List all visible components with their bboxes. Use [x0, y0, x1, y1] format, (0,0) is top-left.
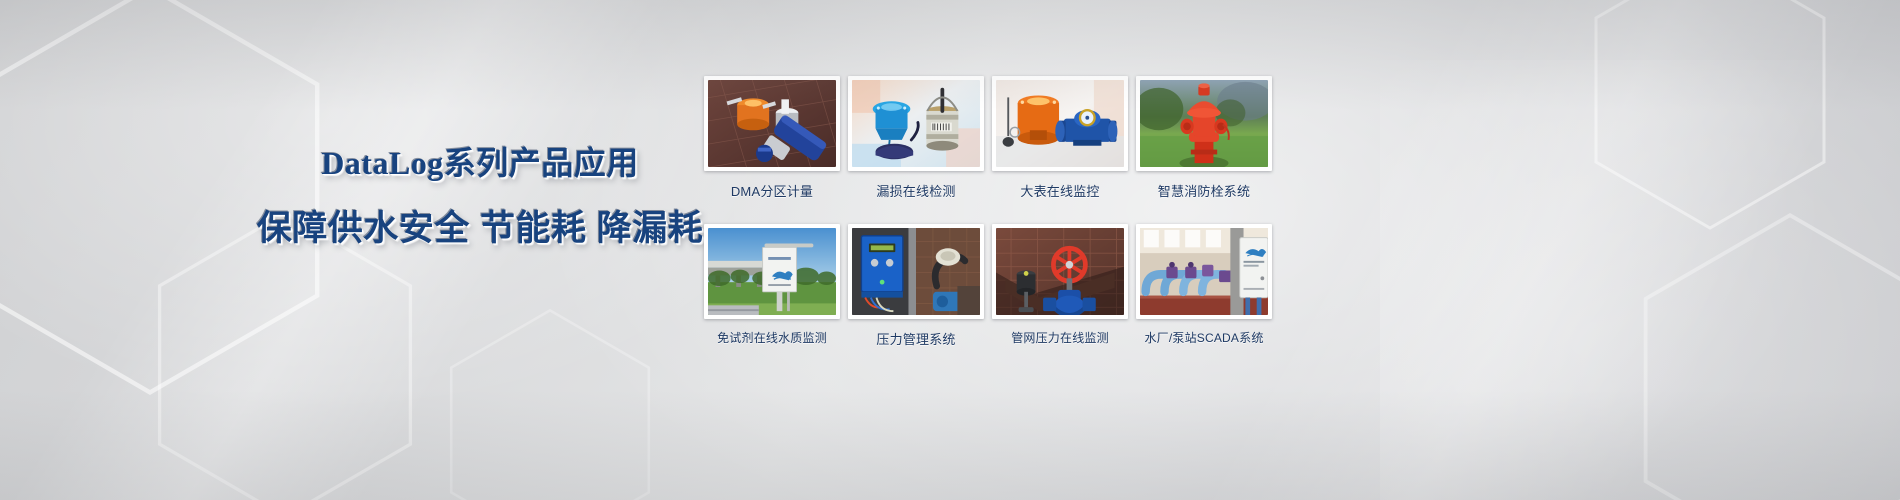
- fire-hydrant-icon: [1140, 80, 1268, 167]
- gallery-item-large-meter-monitoring[interactable]: 大表在线监控: [988, 76, 1132, 212]
- headline-line-2: 保障供水安全 节能耗 降漏耗: [250, 206, 710, 252]
- product-caption: 智慧消防栓系统: [1158, 181, 1250, 200]
- gallery-item-waterworks-scada[interactable]: 水厂/泵站SCADA系统: [1132, 224, 1276, 360]
- headline-line-1: DataLog系列产品应用: [250, 142, 710, 184]
- gallery-item-leakage-online-detection[interactable]: 漏损在线检测: [844, 76, 988, 212]
- product-caption: 管网压力在线监测: [1011, 329, 1109, 346]
- product-caption: 漏损在线检测: [876, 181, 955, 200]
- product-card[interactable]: [1136, 224, 1272, 319]
- product-card[interactable]: [848, 76, 984, 171]
- product-card[interactable]: [704, 224, 840, 319]
- product-caption: 大表在线监控: [1020, 181, 1099, 200]
- product-card[interactable]: [1136, 76, 1272, 171]
- product-card[interactable]: [992, 224, 1128, 319]
- product-caption: 水厂/泵站SCADA系统: [1144, 329, 1263, 346]
- leak-sensor-icon: [852, 80, 980, 167]
- gallery-item-network-pressure-monitoring[interactable]: 管网压力在线监测: [988, 224, 1132, 360]
- gallery-item-dma-metering[interactable]: DMA分区计量: [700, 76, 844, 212]
- headline-block: DataLog系列产品应用 保障供水安全 节能耗 降漏耗: [250, 142, 710, 252]
- gallery-item-reagent-free-water-quality[interactable]: 免试剂在线水质监测: [700, 224, 844, 360]
- product-caption: 免试剂在线水质监测: [717, 329, 827, 346]
- product-caption: 压力管理系统: [876, 329, 955, 348]
- product-card[interactable]: [992, 76, 1128, 171]
- product-gallery-grid: DMA分区计量: [700, 76, 1276, 360]
- product-card[interactable]: [848, 224, 984, 319]
- background-sheen-right: [1380, 60, 1900, 500]
- water-meter-icon: [996, 80, 1124, 167]
- gate-valve-icon: [996, 228, 1124, 315]
- pump-station-icon: [1140, 228, 1268, 315]
- product-card[interactable]: [704, 76, 840, 171]
- gallery-item-smart-hydrant-system[interactable]: 智慧消防栓系统: [1132, 76, 1276, 212]
- product-caption: DMA分区计量: [731, 181, 813, 200]
- banner-root: DataLog系列产品应用 保障供水安全 节能耗 降漏耗: [0, 0, 1900, 500]
- monitoring-station-icon: [708, 228, 836, 315]
- gallery-item-pressure-management-system[interactable]: 压力管理系统: [844, 224, 988, 360]
- control-cabinet-icon: [852, 228, 980, 315]
- valve-chamber-icon: [708, 80, 836, 167]
